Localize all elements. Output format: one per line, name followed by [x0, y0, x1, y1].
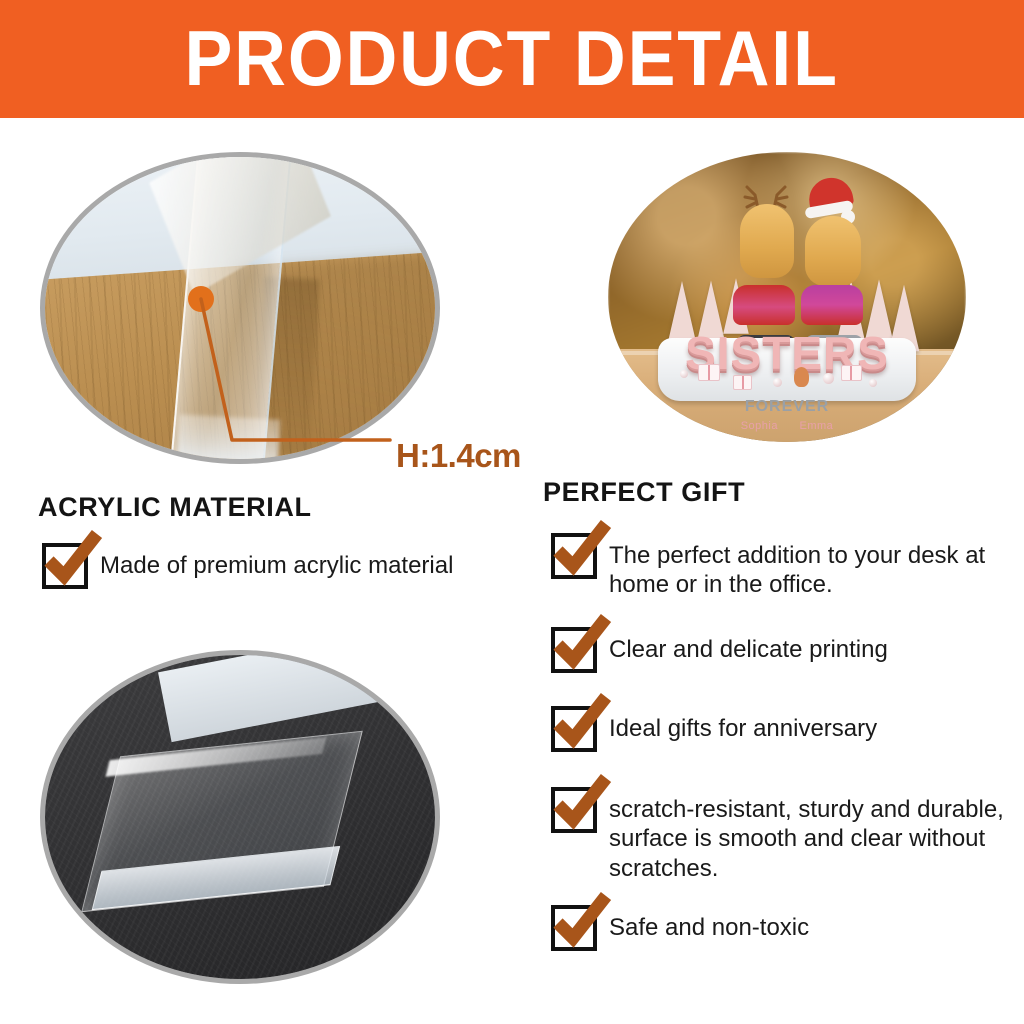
acrylic-base-edge — [176, 414, 280, 464]
figure-left-hair — [740, 204, 794, 278]
edge-photo-scene — [45, 157, 435, 459]
feature-label: scratch-resistant, sturdy and durable, s… — [609, 787, 1009, 883]
page-title: PRODUCT DETAIL — [185, 19, 839, 97]
product-names: Sophia Emma — [608, 420, 966, 432]
gingerbread-man-icon — [794, 367, 809, 387]
product-sub-word: FOREVER — [608, 398, 966, 416]
gift-box-icon — [841, 365, 862, 381]
feature-item: scratch-resistant, sturdy and durable, s… — [551, 787, 1009, 883]
checkmark-icon — [42, 530, 104, 592]
section-title-perfect-gift: PERFECT GIFT — [543, 477, 745, 508]
figure-left-sweater — [733, 285, 795, 325]
page-header-banner: PRODUCT DETAIL — [0, 0, 1024, 118]
product-render-photo: SISTERS FOREVER Sophia Emma — [608, 152, 966, 442]
checkmark-icon — [551, 892, 613, 954]
feature-item: Clear and delicate printing — [551, 627, 888, 673]
feature-item: The perfect addition to your desk at hom… — [551, 533, 1009, 600]
feature-item: Ideal gifts for anniversary — [551, 706, 877, 752]
checkbox-checked-icon[interactable] — [551, 533, 597, 579]
feature-item: Made of premium acrylic material — [42, 543, 453, 589]
dimension-marker-dot — [188, 286, 214, 312]
feature-item: Safe and non-toxic — [551, 905, 809, 951]
figure-right-sweater — [801, 285, 863, 325]
checkbox-checked-icon[interactable] — [551, 905, 597, 951]
feature-label: Ideal gifts for anniversary — [609, 706, 877, 743]
checkmark-icon — [551, 693, 613, 755]
gift-box-icon — [733, 375, 752, 390]
product-name-1: Sophia — [741, 420, 778, 432]
checkmark-icon — [551, 774, 613, 836]
checkbox-checked-icon[interactable] — [551, 706, 597, 752]
feature-label: Clear and delicate printing — [609, 627, 888, 664]
bauble-icon — [823, 373, 834, 384]
bauble-icon — [773, 378, 782, 387]
feature-label: Safe and non-toxic — [609, 905, 809, 942]
acrylic-block-photo — [40, 650, 440, 984]
acrylic-edge-photo — [40, 152, 440, 464]
checkbox-checked-icon[interactable] — [42, 543, 88, 589]
height-dimension-label: H:1.4cm — [396, 437, 521, 475]
checkmark-icon — [551, 614, 613, 676]
feature-label: Made of premium acrylic material — [100, 543, 453, 580]
bauble-icon — [680, 370, 688, 378]
figure-right-hair — [805, 216, 861, 286]
checkbox-checked-icon[interactable] — [551, 627, 597, 673]
checkmark-icon — [551, 520, 613, 582]
checkbox-checked-icon[interactable] — [551, 787, 597, 833]
product-main-word: SISTERS — [608, 326, 966, 380]
section-title-acrylic-material: ACRYLIC MATERIAL — [38, 492, 312, 523]
product-name-2: Emma — [800, 420, 834, 432]
feature-label: The perfect addition to your desk at hom… — [609, 533, 1009, 600]
gift-box-icon — [698, 364, 720, 381]
